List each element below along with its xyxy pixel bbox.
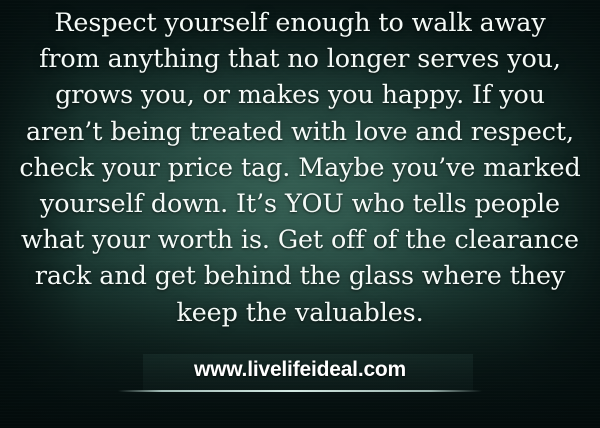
quote-line: grows you, or makes you happy. If you: [6, 76, 594, 112]
quote-line: Respect yourself enough to walk away: [6, 4, 594, 40]
quote-poster: Respect yourself enough to walk away fro…: [0, 0, 600, 428]
quote-line: keep the valuables.: [6, 294, 594, 330]
quote-line: rack and get behind the glass where they: [6, 257, 594, 293]
quote-line: yourself down. It’s YOU who tells people: [6, 185, 594, 221]
quote-line: aren’t being treated with love and respe…: [6, 113, 594, 149]
quote-text-block: Respect yourself enough to walk away fro…: [0, 4, 600, 330]
quote-line: check your price tag. Maybe you’ve marke…: [6, 149, 594, 185]
quote-line: from anything that no longer serves you,: [6, 40, 594, 76]
website-url: www.livelifeideal.com: [0, 358, 600, 382]
footer-divider: [118, 390, 482, 392]
quote-line: what your worth is. Get off of the clear…: [6, 221, 594, 257]
